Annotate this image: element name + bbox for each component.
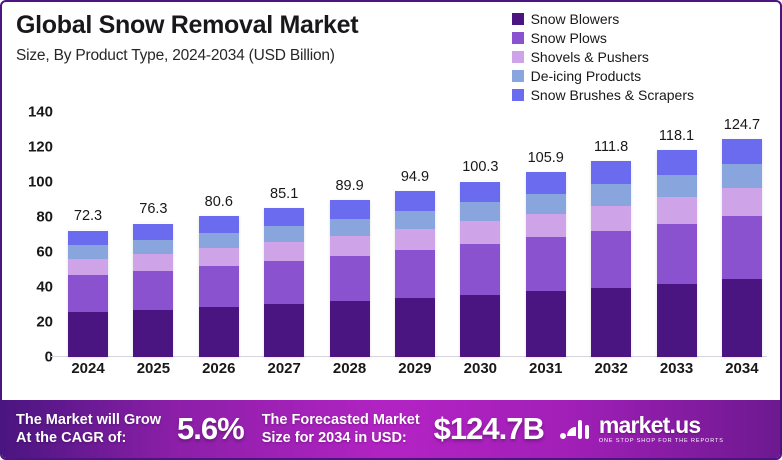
- bar-segment[interactable]: [460, 295, 500, 357]
- bar-column[interactable]: 94.9: [386, 112, 444, 357]
- bar-total-label: 94.9: [401, 169, 429, 185]
- bar-segment[interactable]: [133, 240, 173, 254]
- y-axis-tick-label: 100: [28, 174, 53, 191]
- bar-segment[interactable]: [133, 310, 173, 357]
- bar-segment[interactable]: [199, 307, 239, 357]
- legend-label: De-icing Products: [531, 68, 642, 84]
- bar-segment[interactable]: [591, 231, 631, 288]
- bar-segment[interactable]: [460, 244, 500, 295]
- bar-segment[interactable]: [330, 219, 370, 236]
- y-axis-tick-label: 140: [28, 104, 53, 121]
- bar-total-label: 100.3: [462, 159, 498, 175]
- bar-column[interactable]: 118.1: [648, 112, 706, 357]
- page-subtitle: Size, By Product Type, 2024-2034 (USD Bi…: [16, 47, 486, 65]
- bar-stack[interactable]: [722, 139, 762, 357]
- forecast-size-label-line1: The Forecasted Market: [262, 411, 420, 429]
- forecast-size-label: The Forecasted Market Size for 2034 in U…: [262, 411, 420, 447]
- brand-text: market.us ONE STOP SHOP FOR THE REPORTS: [599, 414, 724, 445]
- bar-total-label: 72.3: [74, 208, 102, 224]
- bar-stack[interactable]: [68, 230, 108, 357]
- bar-segment[interactable]: [395, 250, 435, 298]
- bar-stack[interactable]: [133, 223, 173, 357]
- x-axis-tick-label: 2034: [713, 360, 771, 377]
- bar-total-label: 85.1: [270, 186, 298, 202]
- brand-logo: market.us ONE STOP SHOP FOR THE REPORTS: [558, 414, 724, 445]
- bar-segment[interactable]: [68, 275, 108, 312]
- legend-item[interactable]: Snow Plows: [512, 29, 694, 46]
- bar-total-label: 118.1: [659, 128, 694, 144]
- bar-segment[interactable]: [330, 200, 370, 219]
- brand-tagline: ONE STOP SHOP FOR THE REPORTS: [599, 439, 724, 445]
- bar-segment[interactable]: [722, 188, 762, 216]
- y-axis-tick-label: 20: [36, 314, 53, 331]
- x-axis-tick-label: 2032: [582, 360, 640, 377]
- legend-swatch-icon: [512, 51, 524, 63]
- legend-label: Shovels & Pushers: [531, 49, 649, 65]
- bar-group: 72.376.380.685.189.994.9100.3105.9111.81…: [59, 112, 771, 357]
- bar-segment[interactable]: [657, 224, 697, 284]
- plot-area: 020406080100120140 72.376.380.685.189.99…: [59, 112, 771, 357]
- bar-total-label: 111.8: [594, 139, 628, 155]
- bar-segment[interactable]: [199, 233, 239, 248]
- bar-segment[interactable]: [591, 206, 631, 231]
- bar-segment[interactable]: [68, 245, 108, 259]
- brand-name: market.us: [599, 414, 724, 437]
- bar-segment[interactable]: [199, 216, 239, 233]
- legend-label: Snow Blowers: [531, 11, 620, 27]
- bar-column[interactable]: 111.8: [582, 112, 640, 357]
- cagr-label: The Market will Grow At the CAGR of:: [16, 411, 161, 447]
- bar-segment[interactable]: [460, 202, 500, 221]
- cagr-value: 5.6%: [177, 411, 244, 447]
- bar-segment[interactable]: [68, 312, 108, 357]
- legend-swatch-icon: [512, 32, 524, 44]
- bar-segment[interactable]: [526, 291, 566, 357]
- legend-item[interactable]: Shovels & Pushers: [512, 48, 694, 65]
- bar-stack[interactable]: [460, 181, 500, 357]
- bar-segment[interactable]: [395, 211, 435, 229]
- bar-total-label: 105.9: [528, 150, 564, 166]
- bar-column[interactable]: 89.9: [321, 112, 379, 357]
- chart-header: Global Snow Removal Market Size, By Prod…: [16, 12, 486, 65]
- bar-segment[interactable]: [722, 216, 762, 280]
- market-us-logo-icon: [558, 416, 592, 442]
- bar-column[interactable]: 76.3: [124, 112, 182, 357]
- x-axis-tick-label: 2026: [190, 360, 248, 377]
- bar-segment[interactable]: [199, 266, 239, 307]
- x-axis-tick-label: 2030: [451, 360, 509, 377]
- x-axis: 2024202520262027202820292030203120322033…: [59, 360, 771, 377]
- bar-segment[interactable]: [330, 301, 370, 357]
- bar-total-label: 124.7: [724, 117, 760, 133]
- bar-segment[interactable]: [264, 261, 304, 304]
- cagr-label-line1: The Market will Grow: [16, 411, 161, 429]
- y-axis: 020406080100120140: [7, 112, 53, 357]
- bar-total-label: 89.9: [335, 178, 363, 194]
- bar-column[interactable]: 85.1: [255, 112, 313, 357]
- y-axis-tick-label: 80: [36, 209, 53, 226]
- bar-segment[interactable]: [526, 194, 566, 214]
- bar-segment[interactable]: [395, 191, 435, 211]
- bar-column[interactable]: 124.7: [713, 112, 771, 357]
- bar-column[interactable]: 72.3: [59, 112, 117, 357]
- bar-total-label: 76.3: [139, 201, 167, 217]
- bar-stack[interactable]: [264, 208, 304, 357]
- bar-stack[interactable]: [395, 191, 435, 357]
- chart-legend: Snow BlowersSnow PlowsShovels & PushersD…: [512, 10, 694, 103]
- bar-segment[interactable]: [199, 248, 239, 266]
- bar-stack[interactable]: [330, 200, 370, 357]
- bar-segment[interactable]: [133, 254, 173, 271]
- bar-segment[interactable]: [264, 242, 304, 261]
- bar-segment[interactable]: [657, 284, 697, 357]
- forecast-size-label-line2: Size for 2034 in USD:: [262, 429, 420, 447]
- x-axis-tick-label: 2027: [255, 360, 313, 377]
- y-axis-tick-label: 60: [36, 244, 53, 261]
- bar-stack[interactable]: [657, 150, 697, 357]
- bar-column[interactable]: 100.3: [451, 112, 509, 357]
- bar-segment[interactable]: [460, 221, 500, 243]
- bar-segment[interactable]: [395, 298, 435, 357]
- legend-item[interactable]: Snow Brushes & Scrapers: [512, 86, 694, 103]
- bar-segment[interactable]: [68, 231, 108, 246]
- bar-segment[interactable]: [591, 161, 631, 184]
- x-axis-tick-label: 2031: [517, 360, 575, 377]
- x-axis-tick-label: 2025: [124, 360, 182, 377]
- bar-segment[interactable]: [133, 271, 173, 310]
- y-axis-tick-label: 120: [28, 139, 53, 156]
- bar-segment[interactable]: [68, 259, 108, 275]
- legend-label: Snow Plows: [531, 30, 607, 46]
- cagr-label-line2: At the CAGR of:: [16, 429, 161, 447]
- bar-segment[interactable]: [264, 304, 304, 357]
- x-axis-tick-label: 2024: [59, 360, 117, 377]
- x-axis-tick-label: 2029: [386, 360, 444, 377]
- bar-stack[interactable]: [526, 172, 566, 357]
- legend-item[interactable]: Snow Blowers: [512, 10, 694, 27]
- bar-segment[interactable]: [722, 279, 762, 357]
- y-axis-tick-label: 0: [45, 349, 53, 366]
- legend-swatch-icon: [512, 13, 524, 25]
- legend-item[interactable]: De-icing Products: [512, 67, 694, 84]
- bar-segment[interactable]: [460, 182, 500, 203]
- bar-stack[interactable]: [591, 161, 631, 357]
- bar-column[interactable]: 80.6: [190, 112, 248, 357]
- bar-segment[interactable]: [526, 214, 566, 238]
- bar-segment[interactable]: [526, 172, 566, 194]
- forecast-size-value: $124.7B: [434, 411, 544, 447]
- bar-column[interactable]: 105.9: [517, 112, 575, 357]
- bar-segment[interactable]: [526, 237, 566, 291]
- bar-segment[interactable]: [133, 224, 173, 240]
- bar-segment[interactable]: [264, 226, 304, 242]
- bar-segment[interactable]: [330, 236, 370, 256]
- bar-segment[interactable]: [264, 208, 304, 226]
- page-title: Global Snow Removal Market: [16, 12, 486, 40]
- bar-stack[interactable]: [199, 216, 239, 357]
- legend-label: Snow Brushes & Scrapers: [531, 87, 694, 103]
- legend-swatch-icon: [512, 89, 524, 101]
- bar-segment[interactable]: [657, 175, 697, 197]
- bar-segment[interactable]: [330, 256, 370, 302]
- x-axis-tick-label: 2028: [321, 360, 379, 377]
- bar-total-label: 80.6: [205, 194, 233, 210]
- bar-segment[interactable]: [722, 164, 762, 188]
- y-axis-tick-label: 40: [36, 279, 53, 296]
- bar-segment[interactable]: [657, 150, 697, 174]
- bar-segment[interactable]: [591, 184, 631, 205]
- legend-swatch-icon: [512, 70, 524, 82]
- x-axis-tick-label: 2033: [648, 360, 706, 377]
- chart-infographic: Global Snow Removal Market Size, By Prod…: [0, 0, 782, 460]
- footer-banner: The Market will Grow At the CAGR of: 5.6…: [2, 400, 782, 458]
- bar-segment[interactable]: [591, 288, 631, 357]
- bar-segment[interactable]: [722, 139, 762, 165]
- bar-segment[interactable]: [395, 229, 435, 250]
- bar-segment[interactable]: [657, 197, 697, 223]
